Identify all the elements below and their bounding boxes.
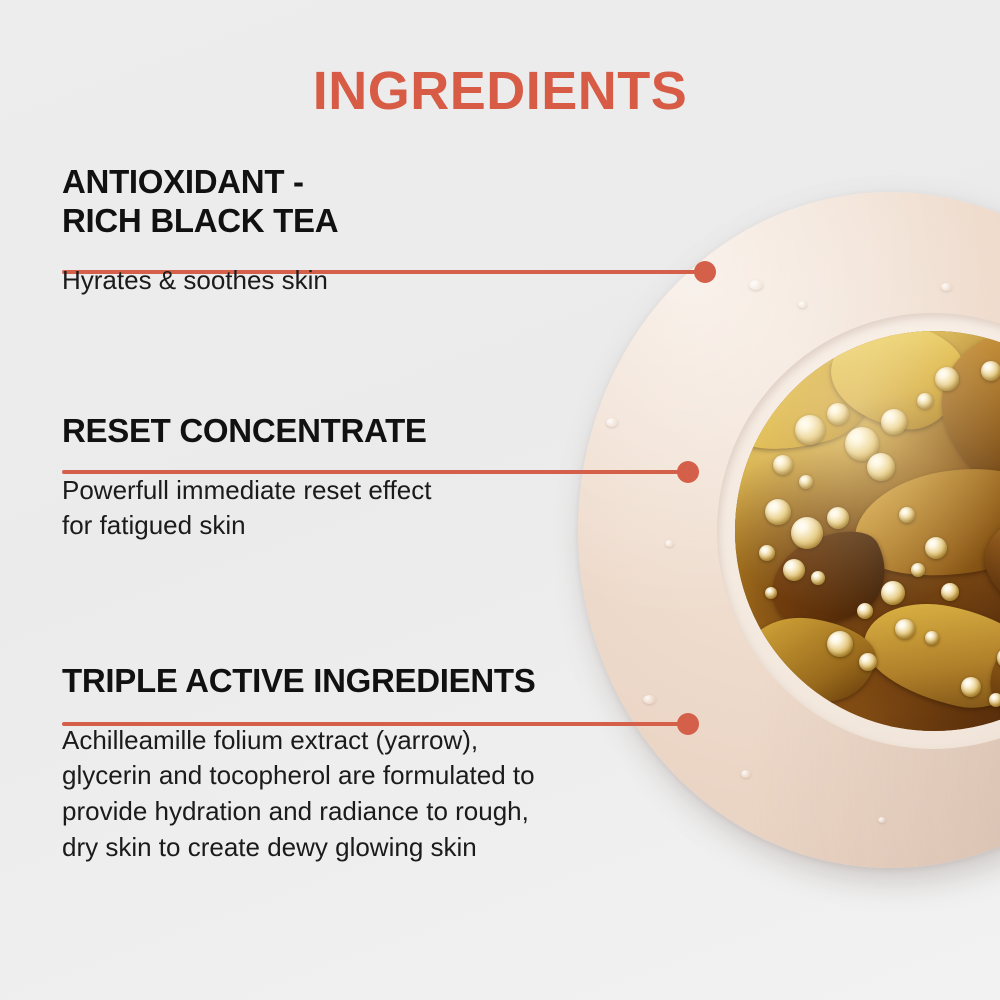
ingredients-infographic: INGREDIENTS ANTIOXIDANT - RICH BLACK TEA… — [0, 0, 1000, 1000]
tea-leaf — [824, 331, 971, 437]
ingredient-heading-3: TRIPLE ACTIVE INGREDIENTS — [62, 662, 535, 701]
bubble — [799, 475, 813, 489]
bubble — [845, 427, 879, 461]
bubble — [759, 545, 775, 561]
bubble — [917, 393, 933, 409]
bubble — [811, 571, 825, 585]
droplet — [665, 540, 674, 547]
bubble — [795, 415, 825, 445]
bubble — [925, 631, 939, 645]
bubble — [895, 619, 915, 639]
bubble — [911, 563, 925, 577]
outer-disc — [578, 192, 1000, 868]
connector-dot-1 — [694, 261, 716, 283]
bubble — [935, 367, 959, 391]
bubble — [859, 653, 877, 671]
bubble — [881, 409, 907, 435]
bubble — [899, 507, 915, 523]
bubble — [827, 403, 849, 425]
bubble — [961, 677, 981, 697]
droplet — [741, 770, 751, 778]
ingredient-heading-1: ANTIOXIDANT - RICH BLACK TEA — [62, 163, 338, 240]
droplet — [606, 418, 618, 427]
bubble — [857, 603, 873, 619]
bubble — [981, 361, 1000, 381]
bubble — [925, 537, 947, 559]
tea-photo — [735, 331, 1000, 731]
tea-leaf — [756, 514, 902, 645]
tea-liquid-background — [735, 331, 1000, 731]
ingredient-description-3: Achilleamille folium extract (yarrow), g… — [62, 723, 535, 867]
page-title: INGREDIENTS — [0, 60, 1000, 122]
bubble — [827, 507, 849, 529]
droplet — [643, 695, 656, 704]
droplet — [749, 280, 763, 290]
droplet — [878, 817, 886, 823]
ingredient-description-1: Hyrates & soothes skin — [62, 263, 338, 299]
bubble — [765, 499, 791, 525]
bubble — [791, 517, 823, 549]
ingredient-block-2: RESET CONCENTRATE Powerfull immediate re… — [62, 412, 431, 544]
bubble — [941, 583, 959, 601]
bubble — [765, 587, 777, 599]
ingredient-heading-2: RESET CONCENTRATE — [62, 412, 431, 451]
outer-disc-sheen — [578, 192, 1000, 868]
ingredient-description-2: Powerfull immediate reset effect for fat… — [62, 473, 431, 545]
bubble — [881, 581, 905, 605]
bubble — [989, 693, 1000, 707]
ingredient-block-3: TRIPLE ACTIVE INGREDIENTS Achilleamille … — [62, 662, 535, 866]
tea-leaf — [735, 350, 883, 466]
tea-leaf — [846, 456, 1000, 589]
tea-leaf — [979, 607, 1000, 731]
tea-leaf — [921, 331, 1000, 504]
bubble — [827, 631, 853, 657]
product-visual — [545, 175, 1000, 885]
droplet — [798, 301, 807, 308]
droplet — [941, 283, 952, 291]
bubble — [773, 455, 793, 475]
photo-sheen — [735, 331, 1000, 731]
bubble — [867, 453, 895, 481]
tea-leaf — [970, 495, 1000, 651]
tea-leaf — [742, 610, 880, 707]
ingredient-block-1: ANTIOXIDANT - RICH BLACK TEA Hyrates & s… — [62, 163, 338, 299]
connector-dot-2 — [677, 461, 699, 483]
connector-dot-3 — [677, 713, 699, 735]
inner-rim — [717, 313, 1000, 749]
bubble — [783, 559, 805, 581]
tea-leaf — [855, 590, 1000, 719]
